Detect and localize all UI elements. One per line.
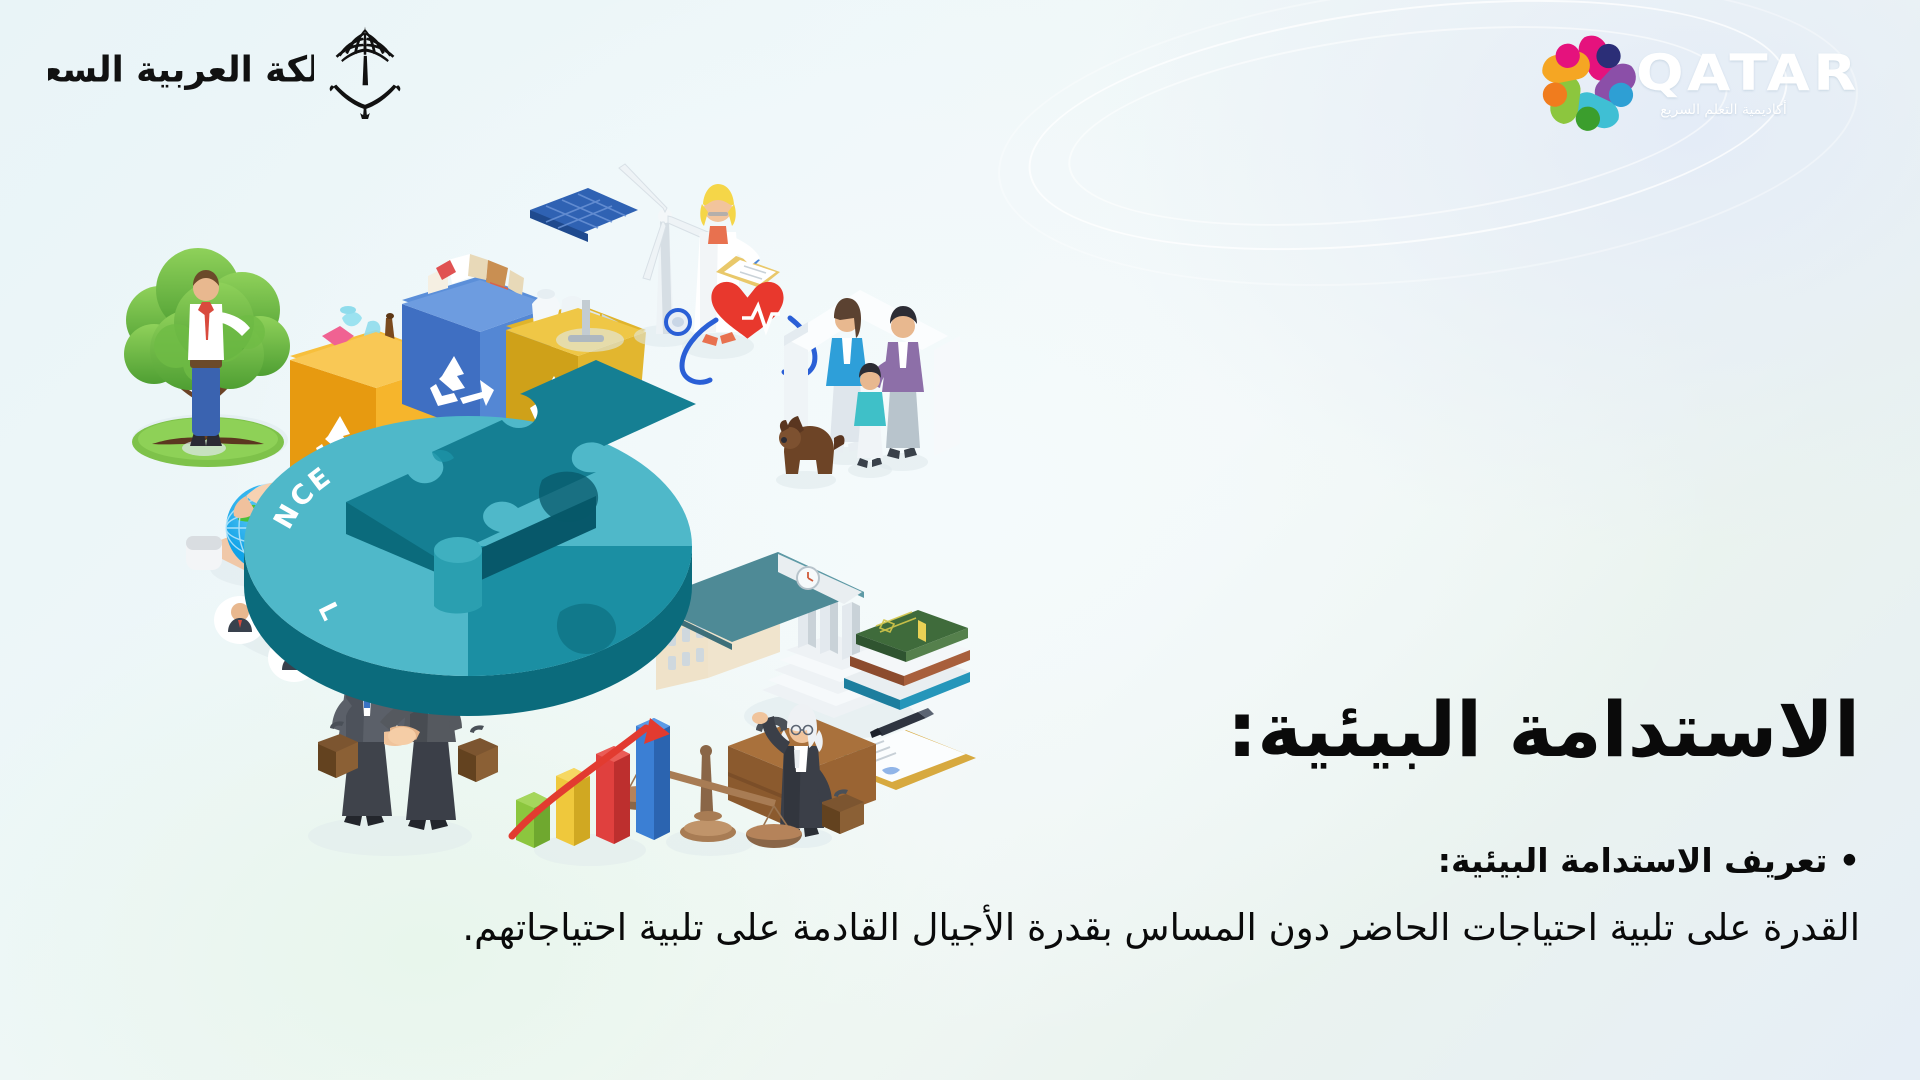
five-petal-star-flower-icon	[1532, 28, 1644, 140]
page-title: الاستدامة البيئية:	[1227, 690, 1860, 770]
definition-paragraph: القدرة على تلبية احتياجات الحاضر دون الم…	[60, 903, 1860, 953]
esg-isometric-illustration: GOVERNANCE SOCIAL ENVIRONMENT	[90, 150, 1110, 870]
bullet-heading: • تعريف الاستدامة البيئية:	[1438, 840, 1860, 881]
svg-text:ENVIRONMENT: ENVIRONMENT	[90, 150, 104, 156]
family-house	[776, 290, 960, 489]
qatar-logo-text-group: QATAR أكاديمية التعلم السريع	[1660, 50, 1860, 119]
saudi-emblem-palm-swords-icon	[328, 18, 402, 122]
law-books	[844, 610, 970, 710]
saudi-emblem-arabic-calligraphy: المملكة العربية السعودية	[48, 39, 314, 101]
saudi-arabia-emblem-logo: المملكة العربية السعودية	[48, 18, 402, 122]
qatar-tagline: أكاديمية التعلم السريع	[1660, 102, 1786, 118]
ksa-name-text: المملكة العربية السعودية	[48, 50, 314, 91]
growth-bar-chart	[512, 718, 670, 866]
slide-canvas: المملكة العربية السعودية QATAR أكاديمية …	[0, 0, 1920, 1080]
puzzle-knob	[434, 537, 482, 614]
qatar-academy-logo: QATAR أكاديمية التعلم السريع	[1532, 28, 1860, 140]
qatar-wordmark: QATAR	[1636, 50, 1860, 98]
puzzle-label-environment: ENVIRONMENT	[90, 150, 104, 156]
